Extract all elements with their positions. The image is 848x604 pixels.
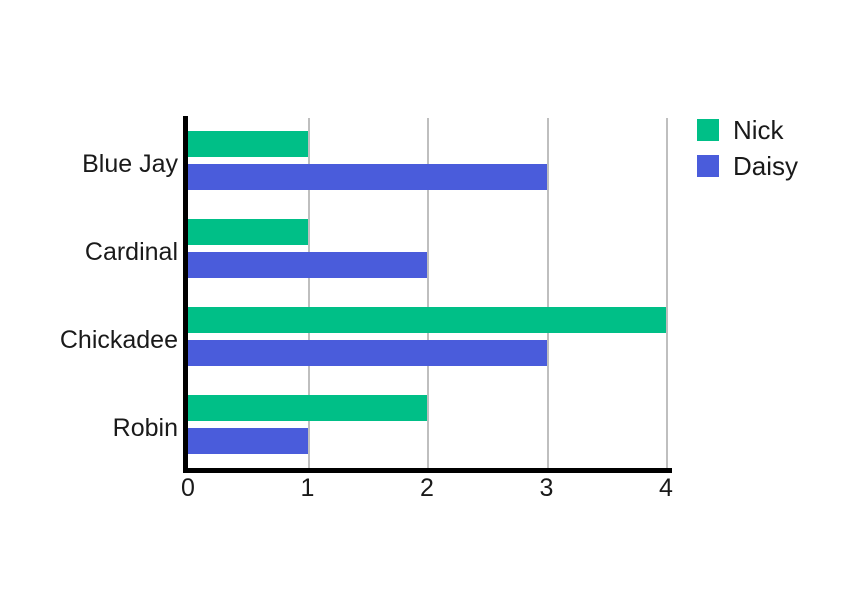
bar-nick-chickadee[interactable] xyxy=(188,307,666,333)
x-tick-3: 3 xyxy=(517,476,577,501)
bar-daisy-chickadee[interactable] xyxy=(188,340,547,366)
y-axis-label-robin: Robin xyxy=(0,416,178,441)
x-axis-tick-labels: 01234 xyxy=(188,476,666,516)
x-tick-2: 2 xyxy=(397,476,457,501)
plot-area xyxy=(188,118,666,470)
bar-nick-blue-jay[interactable] xyxy=(188,131,308,157)
bar-nick-cardinal[interactable] xyxy=(188,219,308,245)
y-axis-label-cardinal: Cardinal xyxy=(0,240,178,265)
chart-legend: NickDaisy xyxy=(697,112,798,184)
y-axis-category-labels: Blue JayCardinalChickadeeRobin xyxy=(0,118,178,470)
bar-daisy-blue-jay[interactable] xyxy=(188,164,547,190)
legend-item-nick[interactable]: Nick xyxy=(697,112,798,148)
bar-chart: Blue JayCardinalChickadeeRobin 01234 Nic… xyxy=(0,0,848,604)
legend-swatch-daisy xyxy=(697,155,719,177)
x-tick-4: 4 xyxy=(636,476,696,501)
bar-group xyxy=(188,395,666,454)
y-axis-label-chickadee: Chickadee xyxy=(0,328,178,353)
legend-label-nick: Nick xyxy=(733,117,784,143)
bar-group xyxy=(188,131,666,190)
bar-group xyxy=(188,219,666,278)
bar-group xyxy=(188,307,666,366)
y-axis-label-blue-jay: Blue Jay xyxy=(0,152,178,177)
bar-nick-robin[interactable] xyxy=(188,395,427,421)
bar-daisy-cardinal[interactable] xyxy=(188,252,427,278)
legend-label-daisy: Daisy xyxy=(733,153,798,179)
x-tick-1: 1 xyxy=(278,476,338,501)
bar-daisy-robin[interactable] xyxy=(188,428,308,454)
legend-item-daisy[interactable]: Daisy xyxy=(697,148,798,184)
legend-swatch-nick xyxy=(697,119,719,141)
gridline xyxy=(666,118,668,470)
x-tick-0: 0 xyxy=(158,476,218,501)
